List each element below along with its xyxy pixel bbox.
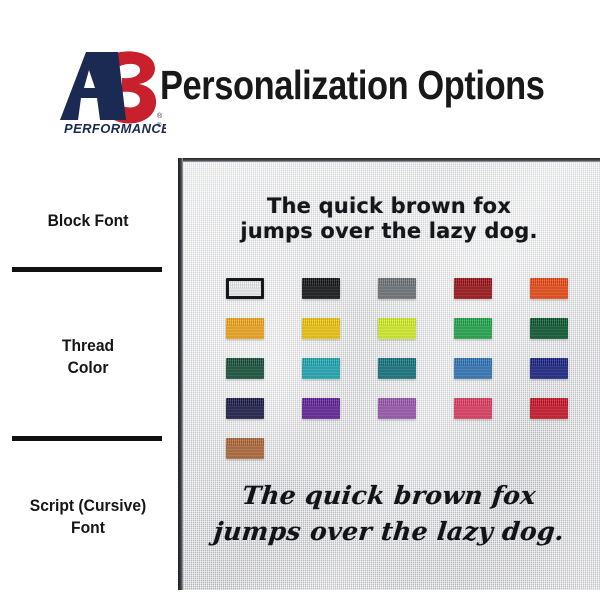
thread-color-swatch-yellow[interactable] (302, 318, 340, 339)
swatch-row (226, 398, 570, 438)
swatch-row (226, 358, 570, 398)
thread-color-swatch-teal[interactable] (378, 358, 416, 379)
embroidery-sample-photo: The quick brown fox jumps over the lazy … (178, 158, 600, 590)
option-legend-sidebar: Block Font Thread Color Script (Cursive)… (0, 150, 176, 600)
thread-color-swatch-red[interactable] (530, 398, 568, 419)
thread-color-swatch-black[interactable] (302, 278, 340, 299)
thread-color-swatch-dark-red[interactable] (454, 278, 492, 299)
legend-label-script-font-line2: Font (71, 518, 105, 537)
thread-color-swatch-orchid[interactable] (378, 398, 416, 419)
block-font-sample-line2: jumps over the lazy dog. (178, 219, 600, 244)
svg-text:®: ® (157, 112, 163, 120)
legend-divider-1 (12, 267, 162, 272)
fabric-top-edge (178, 158, 600, 162)
block-font-sample-text: The quick brown fox jumps over the lazy … (178, 194, 600, 244)
thread-color-swatch-orange-red[interactable] (530, 278, 568, 299)
thread-color-swatch-royal-blue[interactable] (454, 358, 492, 379)
page-title: Personalization Options (160, 60, 523, 110)
thread-color-swatch-grey[interactable] (378, 278, 416, 299)
legend-divider-2 (12, 436, 162, 441)
thread-color-swatch-grid (226, 278, 570, 478)
thread-color-swatch-pink[interactable] (454, 398, 492, 419)
legend-label-thread-color-line2: Color (68, 358, 109, 377)
thread-color-swatch-white[interactable] (226, 278, 264, 299)
legend-label-script-font: Script (Cursive) Font (7, 495, 169, 539)
thread-color-swatch-forest-green[interactable] (530, 318, 568, 339)
script-font-sample-line2: jumps over the lazy dog. (178, 514, 600, 550)
page-header: ® PERFORMANCE ® Personalization Options (0, 0, 600, 150)
thread-color-swatch-copper[interactable] (226, 438, 264, 459)
thread-color-swatch-kelly-green[interactable] (454, 318, 492, 339)
block-font-sample-line1: The quick brown fox (178, 194, 600, 219)
legend-label-thread-color: Thread Color (7, 335, 169, 379)
legend-label-block-font: Block Font (7, 210, 169, 232)
script-font-sample-text: The quick brown fox jumps over the lazy … (178, 478, 600, 550)
legend-label-thread-color-line1: Thread (62, 336, 114, 355)
svg-text:PERFORMANCE: PERFORMANCE (64, 121, 166, 136)
swatch-row (226, 278, 570, 318)
swatch-row (226, 438, 570, 478)
thread-color-swatch-neon-yellow[interactable] (378, 318, 416, 339)
thread-color-swatch-midnight-navy[interactable] (226, 398, 264, 419)
thread-color-swatch-turquoise[interactable] (302, 358, 340, 379)
thread-color-swatch-navy-blue[interactable] (530, 358, 568, 379)
script-font-sample-line1: The quick brown fox (178, 478, 600, 514)
legend-label-script-font-line1: Script (Cursive) (30, 496, 146, 515)
a3-performance-logo: ® PERFORMANCE ® (56, 48, 166, 136)
thread-color-swatch-dark-green[interactable] (226, 358, 264, 379)
personalization-options-page: ® PERFORMANCE ® Personalization Options … (0, 0, 600, 600)
thread-color-swatch-purple[interactable] (302, 398, 340, 419)
thread-color-swatch-gold-orange[interactable] (226, 318, 264, 339)
swatch-row (226, 318, 570, 358)
svg-text:®: ® (157, 122, 162, 129)
